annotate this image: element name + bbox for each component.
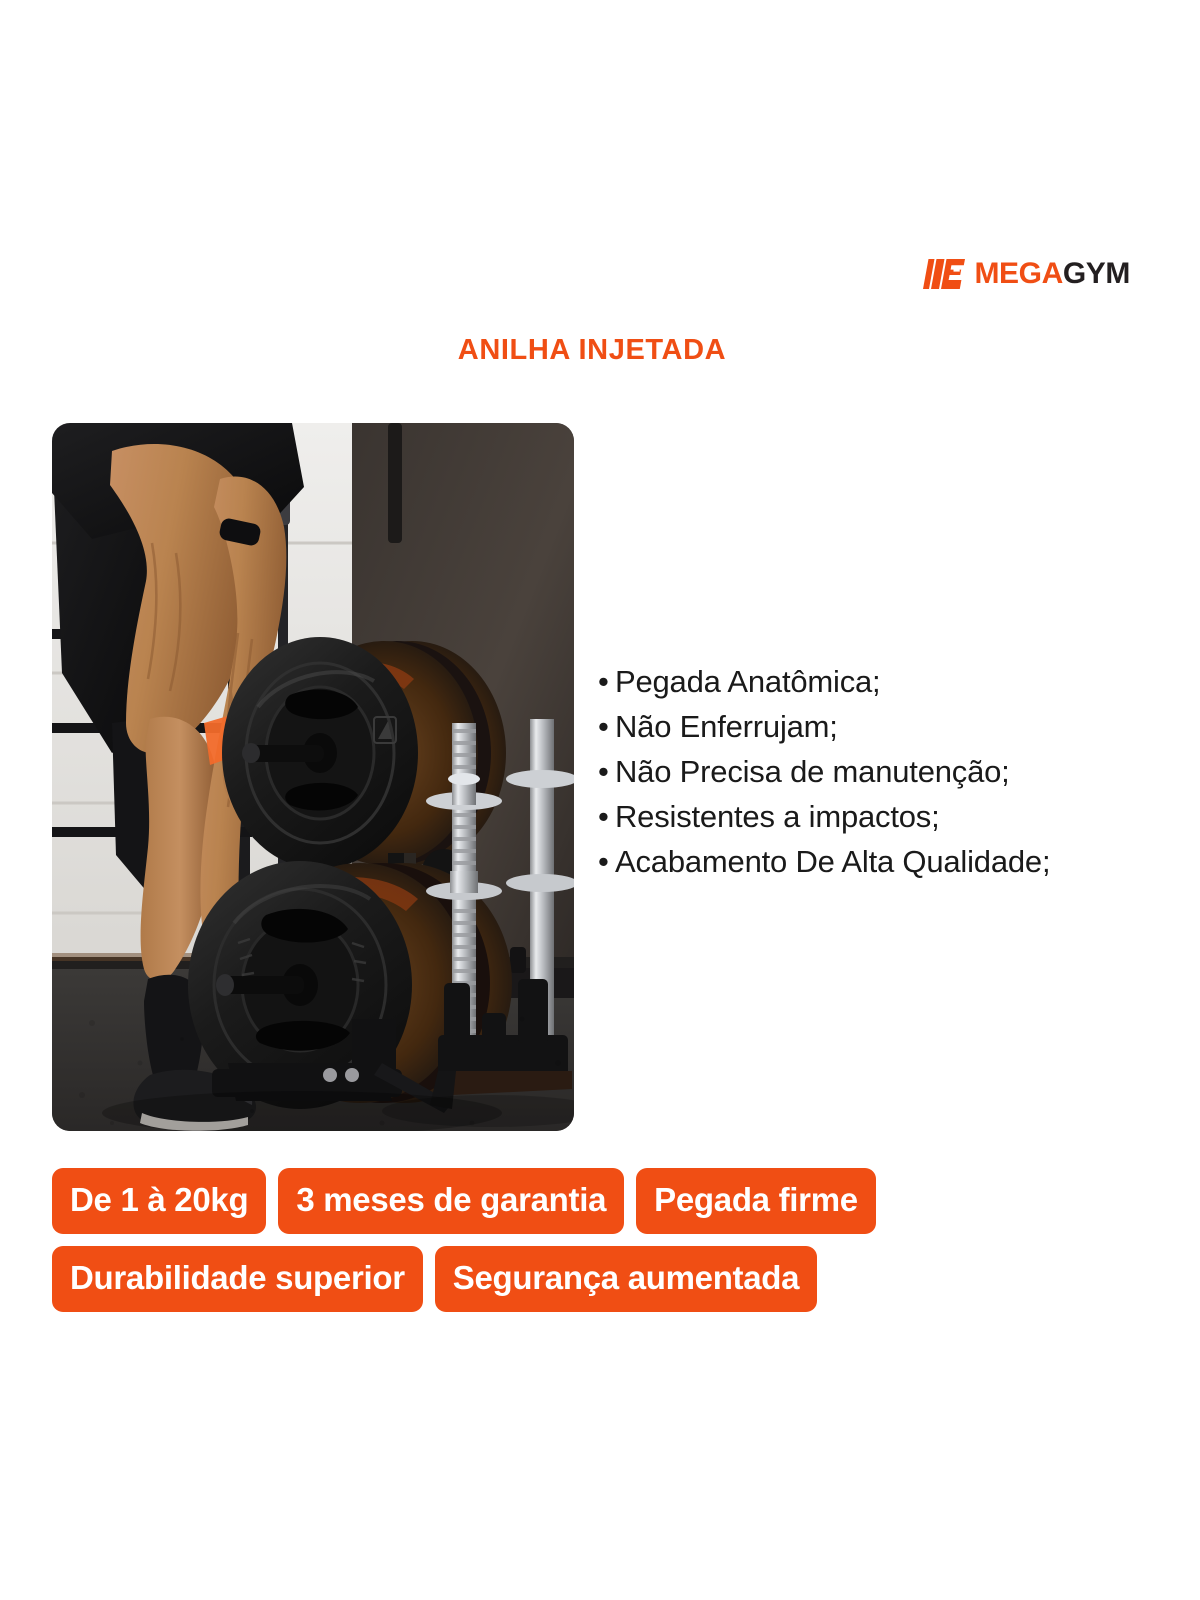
list-item: • Não Enferrujam; [598, 704, 1158, 749]
feature-list: • Pegada Anatômica; • Não Enferrujam; • … [598, 659, 1158, 884]
status-badge: 3 meses de garantia [278, 1168, 624, 1234]
status-badge: De 1 à 20kg [52, 1168, 266, 1234]
status-badge: Durabilidade superior [52, 1246, 423, 1312]
badge-group: De 1 à 20kg 3 meses de garantia Pegada f… [52, 1168, 1112, 1312]
list-item: • Acabamento De Alta Qualidade; [598, 839, 1158, 884]
brand-word-gym: GYM [1063, 257, 1130, 290]
list-item: • Não Precisa de manutenção; [598, 749, 1158, 794]
feature-text: Resistentes a impactos; [615, 794, 940, 839]
feature-text: Acabamento De Alta Qualidade; [615, 839, 1050, 884]
bullet-icon: • [598, 839, 615, 884]
list-item: • Resistentes a impactos; [598, 794, 1158, 839]
product-photo [52, 423, 574, 1131]
feature-text: Não Precisa de manutenção; [615, 749, 1010, 794]
page-title-text: ANILHA INJETADA [458, 334, 726, 367]
bullet-icon: • [598, 749, 615, 794]
megagym-logo-icon [923, 259, 965, 289]
brand-logo: MEGAGYM [923, 254, 1130, 294]
brand-word-mega: MEGA [974, 257, 1062, 290]
product-infographic-page: MEGAGYM ANILHA INJETADA [0, 0, 1200, 1600]
brand-wordmark: MEGAGYM [974, 259, 1130, 289]
list-item: • Pegada Anatômica; [598, 659, 1158, 704]
page-title: ANILHA INJETADA [0, 334, 1200, 367]
status-badge: Pegada firme [636, 1168, 876, 1234]
bullet-icon: • [598, 794, 615, 839]
bullet-icon: • [598, 704, 615, 749]
feature-text: Não Enferrujam; [615, 704, 838, 749]
feature-text: Pegada Anatômica; [615, 659, 880, 704]
bullet-icon: • [598, 659, 615, 704]
status-badge: Segurança aumentada [435, 1246, 817, 1312]
